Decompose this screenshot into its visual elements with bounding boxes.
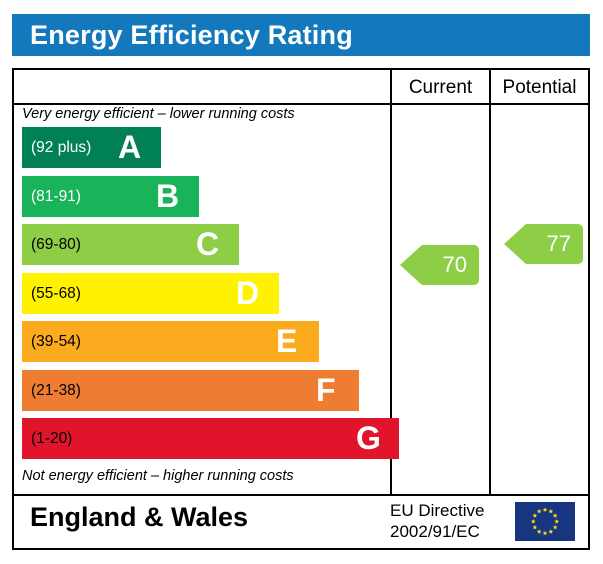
energy-efficiency-certificate: Energy Efficiency Rating Current Potenti… <box>0 0 603 564</box>
certificate-footer: England & Wales EU Directive 2002/91/EC <box>14 496 588 548</box>
band-range-b: (81-91) <box>31 176 81 217</box>
caption-very-efficient: Very energy efficient – lower running co… <box>22 106 295 122</box>
column-divider-potential <box>489 70 491 494</box>
eu-directive-line1: EU Directive <box>390 500 510 521</box>
band-range-c: (69-80) <box>31 224 81 265</box>
band-range-d: (55-68) <box>31 273 81 314</box>
rating-table: Current Potential Very energy efficient … <box>12 68 590 550</box>
band-g: (1-20)G <box>22 418 399 459</box>
band-letter-b: B <box>156 176 179 217</box>
country-label: England & Wales <box>30 502 248 533</box>
band-letter-g: G <box>356 418 381 459</box>
band-range-g: (1-20) <box>31 418 72 459</box>
band-range-e: (39-54) <box>31 321 81 362</box>
band-letter-a: A <box>118 127 141 168</box>
band-f: (21-38)F <box>22 370 359 411</box>
caption-not-efficient: Not energy efficient – higher running co… <box>22 468 294 484</box>
page-title: Energy Efficiency Rating <box>30 21 353 50</box>
band-c: (69-80)C <box>22 224 239 265</box>
eu-flag-stars <box>515 502 575 541</box>
header-row-divider <box>14 103 588 105</box>
rating-value-current: 70 <box>443 252 467 278</box>
rating-value-potential: 77 <box>547 231 571 257</box>
band-letter-f: F <box>316 370 336 411</box>
column-header-current: Current <box>392 74 489 101</box>
band-letter-c: C <box>196 224 219 265</box>
eu-directive-label: EU Directive 2002/91/EC <box>390 500 510 542</box>
band-range-a: (92 plus) <box>31 127 91 168</box>
band-letter-e: E <box>276 321 297 362</box>
band-e: (39-54)E <box>22 321 319 362</box>
column-header-potential: Potential <box>491 74 588 101</box>
band-letter-d: D <box>236 273 259 314</box>
eu-directive-line2: 2002/91/EC <box>390 521 510 542</box>
header-bar: Energy Efficiency Rating <box>12 14 590 56</box>
band-list: (92 plus)A(81-91)B(69-80)C(55-68)D(39-54… <box>22 127 388 467</box>
band-a: (92 plus)A <box>22 127 161 168</box>
eu-flag-icon <box>514 501 576 542</box>
band-b: (81-91)B <box>22 176 199 217</box>
band-range-f: (21-38) <box>31 370 81 411</box>
band-d: (55-68)D <box>22 273 279 314</box>
